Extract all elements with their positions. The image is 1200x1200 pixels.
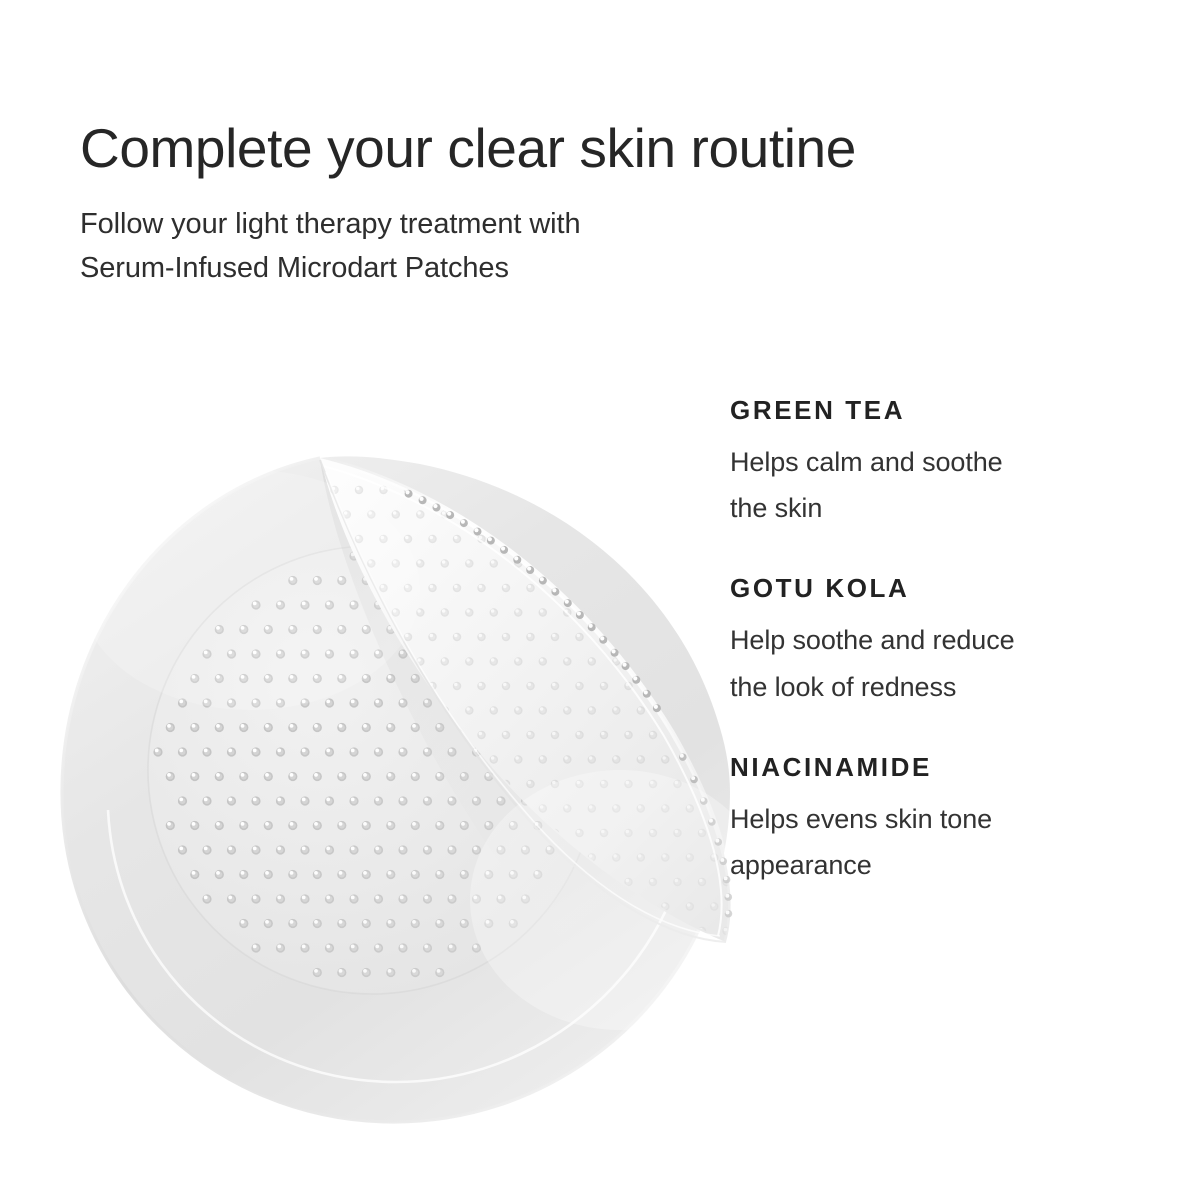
ingredient-item-gotu-kola: GOTU KOLA Help soothe and reduce the loo… bbox=[730, 574, 1160, 709]
microdart-patch-illustration bbox=[20, 340, 840, 1130]
ingredient-desc-line: appearance bbox=[730, 842, 1130, 888]
ingredient-name-niacinamide: NIACINAMIDE bbox=[730, 753, 1160, 782]
ingredient-item-niacinamide: NIACINAMIDE Helps evens skin tone appear… bbox=[730, 753, 1160, 888]
ingredient-desc-line: the skin bbox=[730, 485, 1130, 531]
header-block: Complete your clear skin routine Follow … bbox=[80, 118, 1080, 290]
ingredient-item-green-tea: GREEN TEA Helps calm and soothe the skin bbox=[730, 396, 1160, 531]
product-image bbox=[20, 340, 840, 1130]
ingredient-desc-line: Helps calm and soothe bbox=[730, 439, 1130, 485]
ingredient-desc-green-tea: Helps calm and soothe the skin bbox=[730, 439, 1130, 532]
ingredient-name-gotu-kola: GOTU KOLA bbox=[730, 574, 1160, 603]
ingredient-list: GREEN TEA Helps calm and soothe the skin… bbox=[730, 396, 1160, 888]
ingredient-desc-line: Helps evens skin tone bbox=[730, 796, 1130, 842]
page-subtitle-line-2: Serum-Infused Microdart Patches bbox=[80, 246, 800, 290]
ingredient-desc-line: Help soothe and reduce bbox=[730, 617, 1130, 663]
ingredient-name-green-tea: GREEN TEA bbox=[730, 396, 1160, 425]
page-subtitle: Follow your light therapy treatment with… bbox=[80, 180, 800, 290]
ingredient-desc-niacinamide: Helps evens skin tone appearance bbox=[730, 796, 1130, 889]
ingredient-desc-line: the look of redness bbox=[730, 664, 1130, 710]
page-subtitle-line-1: Follow your light therapy treatment with bbox=[80, 202, 800, 246]
page-title: Complete your clear skin routine bbox=[80, 118, 1080, 180]
ingredient-desc-gotu-kola: Help soothe and reduce the look of redne… bbox=[730, 617, 1130, 710]
